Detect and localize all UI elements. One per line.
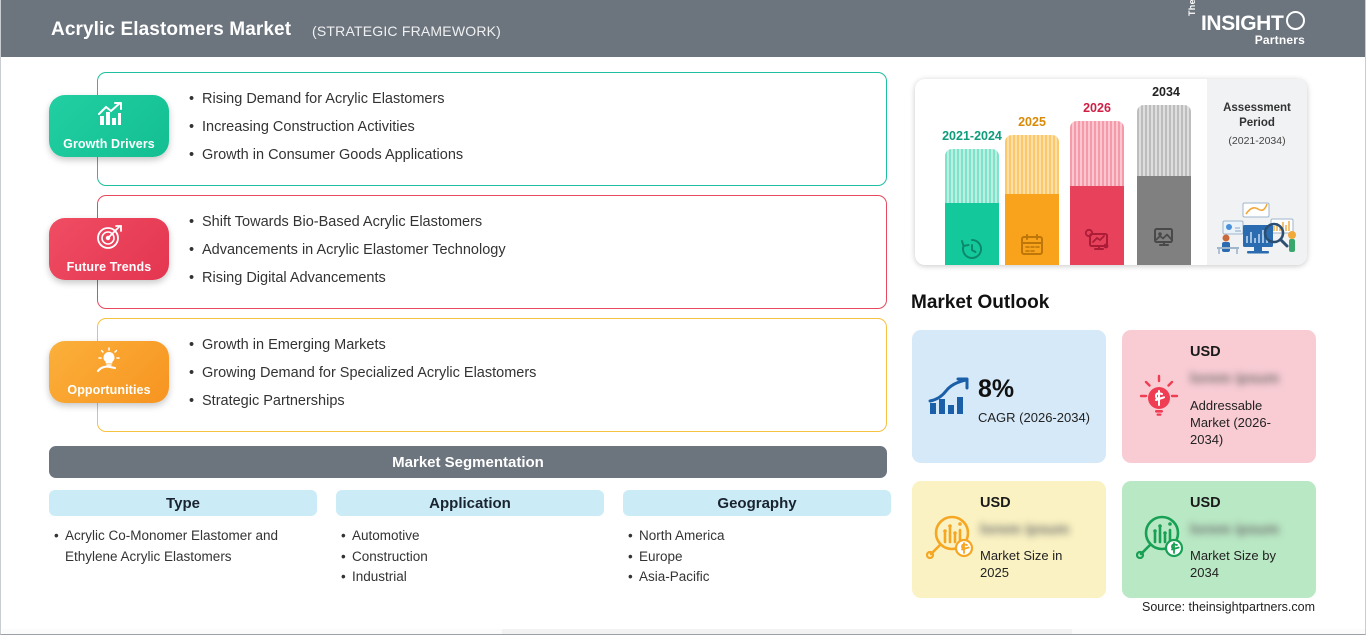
list-item: Acrylic Co-Monomer Elastomer and Ethylen… — [65, 526, 317, 567]
list-item: Industrial — [352, 567, 604, 588]
segmentation-column-header: Type — [49, 490, 317, 516]
list-item: North America — [639, 526, 891, 547]
badge-future-trends[interactable]: Future Trends — [49, 218, 169, 280]
market-segmentation-title: Market Segmentation — [392, 454, 544, 471]
bar-body — [945, 203, 999, 265]
bar-chart-arrow-up-icon — [94, 101, 124, 127]
badge-label: Growth Drivers — [63, 137, 155, 157]
lightbulb-dollar-icon — [1136, 374, 1182, 423]
cagr-value: 8% — [978, 375, 1014, 404]
bar-year-label: 2025 — [993, 115, 1071, 129]
magnifier-circle-icon — [1286, 11, 1305, 30]
list-item: Advancements in Acrylic Elastomer Techno… — [202, 236, 886, 264]
strategy-box-growth-drivers: Rising Demand for Acrylic Elastomers Inc… — [97, 72, 887, 186]
card-label: Market Size in 2025 — [980, 547, 1094, 581]
bar-stripe-top — [1137, 105, 1191, 176]
market-segmentation-header: Market Segmentation — [49, 446, 887, 478]
list-item: Europe — [639, 547, 891, 568]
infographic-page: Acrylic Elastomers Market (STRATEGIC FRA… — [0, 0, 1366, 635]
bar-body — [1070, 186, 1124, 265]
bar-estimated-end-year — [1137, 105, 1191, 265]
horizontal-scrollbar-track[interactable] — [2, 629, 1366, 634]
card-label: Market Size by 2034 — [1190, 547, 1304, 581]
lightbulb-in-hand-icon — [94, 347, 124, 373]
segmentation-column-type: Type Acrylic Co-Monomer Elastomer and Et… — [49, 490, 317, 567]
logo-partners-text: Partners — [1255, 33, 1305, 47]
list-item: Increasing Construction Activities — [202, 113, 886, 141]
segmentation-column-geography: Geography North America Europe Asia-Paci… — [623, 490, 891, 588]
bar-stripe-top — [945, 149, 999, 203]
outlook-card-addressable-market[interactable]: USD lorem ipsum Addressable Market (2026… — [1122, 330, 1316, 463]
badge-label: Opportunities — [67, 383, 150, 403]
list-item: Rising Demand for Acrylic Elastomers — [202, 85, 886, 113]
strategy-list: Rising Demand for Acrylic Elastomers Inc… — [98, 73, 886, 169]
strategy-box-opportunities: Growth in Emerging Markets Growing Deman… — [97, 318, 887, 432]
bar-body — [1137, 176, 1191, 265]
list-item: Growth in Consumer Goods Applications — [202, 141, 886, 169]
list-item: Growth in Emerging Markets — [202, 331, 886, 359]
list-item: Growing Demand for Specialized Acrylic E… — [202, 359, 886, 387]
card-label: Addressable Market (2026-2034) — [1190, 397, 1304, 448]
redacted-value: lorem ipsum — [1190, 521, 1279, 538]
currency-label: USD — [1190, 344, 1221, 360]
magnifier-bar-chart-dollar-icon — [926, 513, 974, 564]
list-item: Shift Towards Bio-Based Acrylic Elastome… — [202, 208, 886, 236]
badge-growth-drivers[interactable]: Growth Drivers — [49, 95, 169, 157]
bar-base-year — [1005, 135, 1059, 265]
outlook-card-cagr[interactable]: 8% CAGR (2026-2034) — [912, 330, 1106, 463]
segmentation-list: North America Europe Asia-Pacific — [623, 526, 891, 588]
page-title: Acrylic Elastomers Market — [51, 19, 291, 41]
redacted-value: lorem ipsum — [980, 521, 1069, 538]
list-item: Strategic Partnerships — [202, 387, 886, 415]
segmentation-column-application: Application Automotive Construction Indu… — [336, 490, 604, 588]
magnifier-bar-chart-dollar-icon — [1136, 513, 1184, 564]
target-dart-icon — [94, 224, 124, 250]
badge-label: Future Trends — [67, 260, 152, 280]
bar-historical-years — [945, 149, 999, 265]
data-analysis-magnifier-illustration — [1213, 195, 1301, 257]
horizontal-scrollbar-thumb[interactable] — [502, 629, 1072, 634]
assessment-period-range: (2021-2034) — [1207, 135, 1307, 147]
strategy-list: Growth in Emerging Markets Growing Deman… — [98, 319, 886, 415]
bar-stripe-top — [1070, 121, 1124, 186]
market-outlook-title: Market Outlook — [911, 292, 1049, 314]
strategy-list: Shift Towards Bio-Based Acrylic Elastome… — [98, 196, 886, 292]
monitor-image-icon — [1151, 224, 1177, 248]
clock-history-icon — [959, 237, 985, 261]
outlook-card-market-size-2025[interactable]: USD lorem ipsum Market Size in 2025 — [912, 481, 1106, 598]
bar-estimated-start-year — [1070, 121, 1124, 265]
bar-chart-arrow-up-icon — [926, 377, 972, 422]
bar-stripe-top — [1005, 135, 1059, 194]
assessment-period-title: Assessment Period — [1207, 101, 1307, 131]
page-header: Acrylic Elastomers Market (STRATEGIC FRA… — [1, 0, 1366, 57]
bar-year-label: 2034 — [1127, 85, 1205, 99]
currency-label: USD — [980, 495, 1011, 511]
currency-label: USD — [1190, 495, 1221, 511]
logo-the-text: The — [1187, 0, 1197, 16]
outlook-card-market-size-2034[interactable]: USD lorem ipsum Market Size by 2034 — [1122, 481, 1316, 598]
list-item: Automotive — [352, 526, 604, 547]
list-item: Rising Digital Advancements — [202, 264, 886, 292]
bar-year-label: 2026 — [1058, 101, 1136, 115]
assessment-period-panel: Assessment Period (2021-2034) — [1207, 79, 1307, 265]
segmentation-list: Automotive Construction Industrial — [336, 526, 604, 588]
badge-opportunities[interactable]: Opportunities — [49, 341, 169, 403]
list-item: Asia-Pacific — [639, 567, 891, 588]
source-attribution: Source: theinsightpartners.com — [1142, 600, 1315, 614]
segmentation-list: Acrylic Co-Monomer Elastomer and Ethylen… — [49, 526, 317, 567]
redacted-value: lorem ipsum — [1190, 370, 1279, 387]
strategy-box-future-trends: Shift Towards Bio-Based Acrylic Elastome… — [97, 195, 887, 309]
segmentation-column-header: Application — [336, 490, 604, 516]
assessment-period-chart: 2021-2024 Historical Years 2025 — [915, 79, 1307, 265]
page-subtitle: (STRATEGIC FRAMEWORK) — [312, 23, 501, 39]
calendar-icon — [1019, 233, 1045, 257]
cagr-label: CAGR (2026-2034) — [978, 409, 1100, 426]
list-item: Construction — [352, 547, 604, 568]
segmentation-column-header: Geography — [623, 490, 891, 516]
bar-body — [1005, 194, 1059, 265]
monitor-settings-icon — [1084, 228, 1110, 252]
insight-partners-logo[interactable]: The INSIGHT Partners — [1187, 10, 1307, 50]
